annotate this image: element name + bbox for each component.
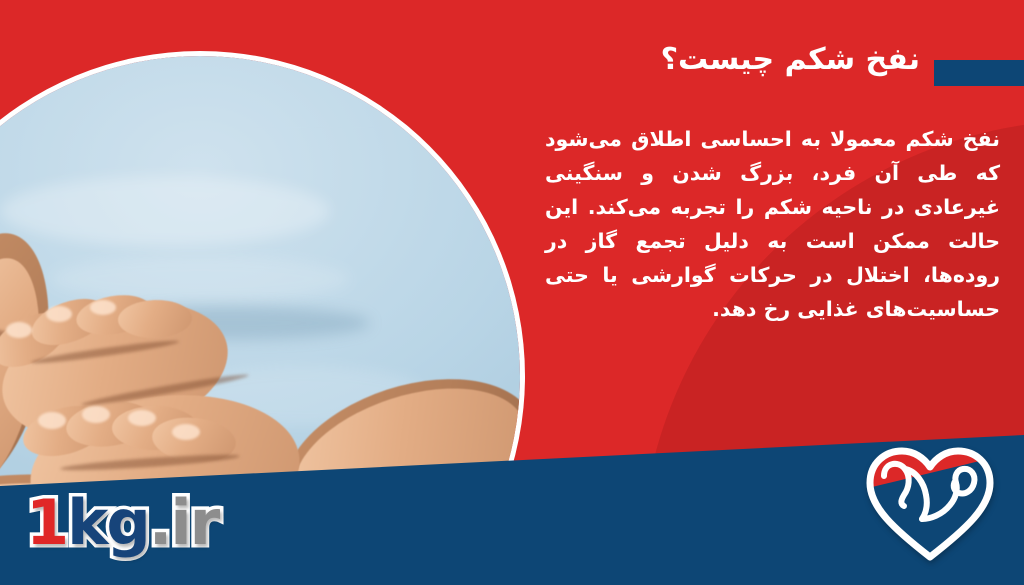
logo-part-kg: kg xyxy=(67,486,149,559)
logo-part-dot: . xyxy=(149,486,171,559)
page-title: نفخ شکم چیست؟ xyxy=(661,42,920,77)
body-paragraph: نفخ شکم معمولا به احساسی اطلاق می‌شود که… xyxy=(545,122,1000,326)
title-accent-bar xyxy=(934,60,1024,86)
heart-muscle-icon xyxy=(864,443,996,563)
site-logo[interactable]: 1kg.ir xyxy=(26,492,218,554)
logo-part-ir: ir xyxy=(170,486,218,559)
logo-part-one: 1 xyxy=(26,486,67,559)
banner: نفخ شکم چیست؟ نفخ شکم معمولا به احساسی ا… xyxy=(0,0,1024,585)
